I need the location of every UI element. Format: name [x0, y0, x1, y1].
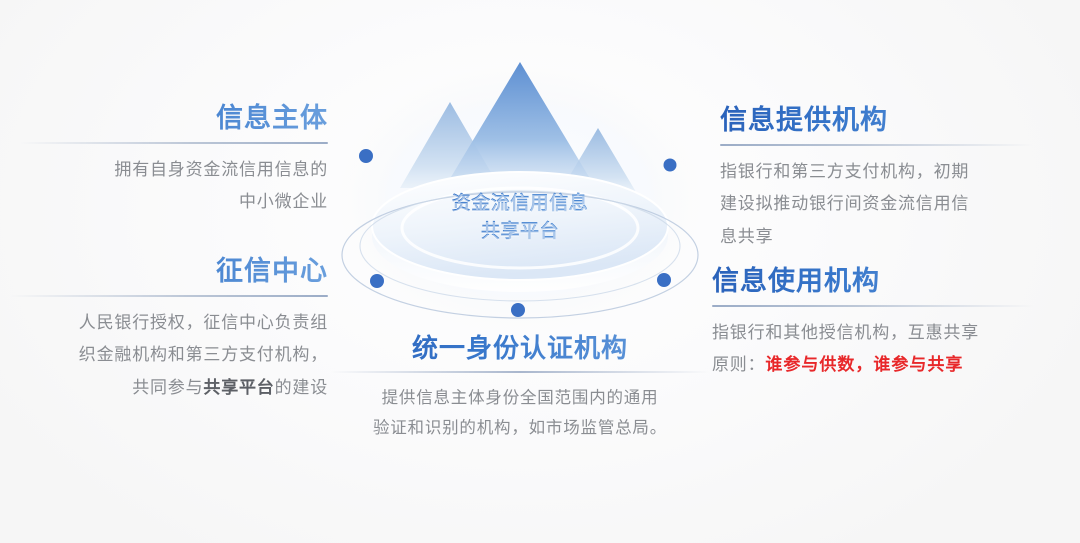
- body-line-prefix: 原则：: [712, 355, 765, 374]
- block-body-information-user: 指银行和其他授信机构，互惠共享 原则：谁参与供数，谁参与共享: [712, 317, 1034, 382]
- body-line: 验证和识别的机构，如市场监管总局。: [373, 418, 667, 437]
- heading-underline: [20, 142, 328, 144]
- orbit-node: [664, 159, 677, 172]
- orbit-node: [657, 273, 671, 287]
- body-line-suffix: 的建设: [275, 378, 328, 397]
- body-line: 指银行和其他授信机构，互惠共享: [712, 323, 979, 342]
- orbit-node: [359, 149, 373, 163]
- block-body-credit-reference-center: 人民银行授权，征信中心负责组 织金融机构和第三方支付机构， 共同参与共享平台的建…: [10, 307, 328, 405]
- body-line: 息共享: [720, 227, 773, 246]
- orbit-node: [511, 303, 525, 317]
- body-emphasis: 共享平台: [203, 378, 274, 397]
- body-line-prefix: 共同参与: [132, 378, 203, 397]
- body-line: 拥有自身资金流信用信息的: [114, 160, 328, 179]
- block-credit-reference-center: 征信中心 人民银行授权，征信中心负责组 织金融机构和第三方支付机构， 共同参与共…: [10, 256, 328, 405]
- body-line: 人民银行授权，征信中心负责组: [79, 313, 328, 332]
- body-line: 提供信息主体身份全国范围内的通用: [382, 388, 659, 407]
- block-body-information-provider: 指银行和第三方支付机构，初期 建设拟推动银行间资金流信用信 息共享: [720, 156, 1032, 254]
- block-heading-unified-identity-authority: 统一身份认证机构: [330, 333, 710, 364]
- block-heading-credit-reference-center: 征信中心: [10, 256, 328, 288]
- body-line: 中小微企业: [239, 192, 328, 211]
- block-body-information-subject: 拥有自身资金流信用信息的 中小微企业: [20, 154, 328, 219]
- body-line: 建设拟推动银行间资金流信用信: [720, 194, 969, 213]
- heading-underline: [330, 371, 710, 373]
- diagram-canvas: 资金流信用信息 共享平台 信息主体 拥有自身资金流信用信息的 中小微企业 征信中…: [0, 0, 1080, 543]
- heading-underline: [720, 144, 1032, 146]
- body-accent-text: 谁参与供数，谁参与共享: [765, 355, 963, 374]
- orbit-node: [370, 274, 384, 288]
- block-information-provider: 信息提供机构 指银行和第三方支付机构，初期 建设拟推动银行间资金流信用信 息共享: [720, 105, 1032, 254]
- block-information-subject: 信息主体 拥有自身资金流信用信息的 中小微企业: [20, 103, 328, 219]
- block-heading-information-user: 信息使用机构: [712, 266, 1034, 298]
- block-unified-identity-authority: 统一身份认证机构 提供信息主体身份全国范围内的通用 验证和识别的机构，如市场监管…: [330, 333, 710, 444]
- body-line: 织金融机构和第三方支付机构，: [79, 345, 328, 364]
- block-heading-information-provider: 信息提供机构: [720, 105, 1032, 137]
- central-platform-graphic: 资金流信用信息 共享平台: [330, 40, 710, 340]
- block-body-unified-identity-authority: 提供信息主体身份全国范围内的通用 验证和识别的机构，如市场监管总局。: [330, 383, 710, 444]
- heading-underline: [10, 295, 328, 297]
- body-line: 指银行和第三方支付机构，初期: [720, 162, 969, 181]
- heading-underline: [712, 305, 1034, 307]
- block-heading-information-subject: 信息主体: [20, 103, 328, 135]
- block-information-user: 信息使用机构 指银行和其他授信机构，互惠共享 原则：谁参与供数，谁参与共享: [712, 266, 1034, 382]
